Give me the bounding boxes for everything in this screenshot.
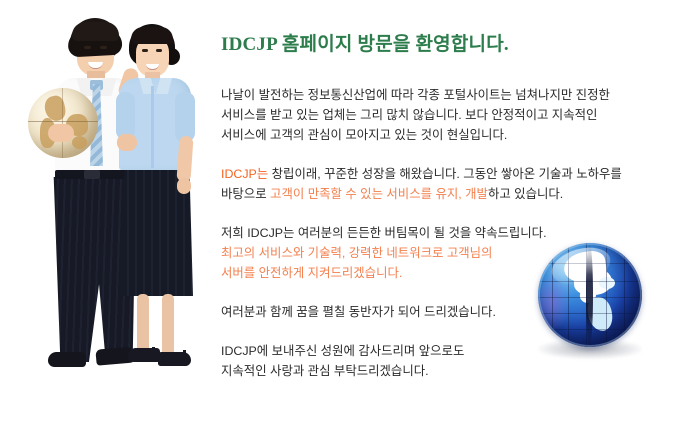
woman-hand-right: [177, 178, 191, 194]
paragraph-2-line-2: 바탕으로 고객이 만족할 수 있는 서비스를 유지, 개발하고 있습니다.: [221, 187, 563, 201]
paragraph-2-line-2-start: 바탕으로: [221, 187, 270, 201]
woman-leg-right: [162, 294, 174, 356]
paragraph-2-line-2-end: 하고 있습니다.: [488, 187, 563, 201]
man-shoe-left: [48, 352, 86, 367]
paragraph-3-line-2: 최고의 서비스와 기술력, 강력한 네트워크로 고객님의: [221, 246, 492, 260]
paragraph-1: 나날이 발전하는 정보통신산업에 따라 각종 포털사이트는 넘쳐나지만 진정한 …: [221, 85, 671, 145]
man-eye-right: [100, 46, 107, 49]
woman-hand-left: [117, 134, 137, 151]
woman-eye-left: [142, 49, 148, 52]
paragraph-4-line-1: 여러분과 함께 꿈을 펼칠 동반자가 되어 드리겠습니다.: [221, 305, 496, 319]
welcome-page: IDCJP 홈페이지 방문을 환영합니다. 나날이 발전하는 정보통신산업에 따…: [0, 0, 680, 431]
woman-eye-right: [156, 49, 162, 52]
globe-rim-light: [538, 243, 642, 347]
woman-arm-right: [175, 92, 195, 142]
woman-fringe: [131, 27, 173, 44]
vintage-globe-landmass: [72, 136, 87, 149]
globe-sphere: [538, 243, 642, 347]
woman-leg-left: [137, 294, 149, 356]
service-highlight: 고객이 만족할 수 있는 서비스를 유지, 개발: [270, 187, 488, 201]
man-belt-buckle: [84, 170, 100, 179]
woman-shoe-right: [158, 352, 191, 366]
vintage-globe-meridian: [62, 88, 63, 158]
paragraph-1-line-3: 서비스에 고객의 관심이 모아지고 있는 것이 현실입니다.: [221, 128, 507, 142]
woman-arm-left: [116, 92, 135, 140]
brand-name-highlight: IDCJP는: [221, 167, 268, 181]
woman-shirt-placket: [151, 86, 154, 168]
man-hand-holding-globe: [48, 124, 74, 142]
paragraph-5-line-2: 지속적인 사랑과 관심 부탁드리겠습니다.: [221, 364, 429, 378]
woman-forearm-right: [176, 136, 193, 183]
man-fringe: [72, 22, 119, 41]
vintage-globe-equator: [28, 121, 98, 122]
paragraph-3-line-1: 저희 IDCJP는 여러분의 든든한 버팀목이 될 것을 약속드립니다.: [221, 226, 547, 240]
woman-shoe-left: [128, 348, 160, 362]
vintage-globe-icon: [28, 88, 98, 158]
paragraph-5-line-1: IDCJP에 보내주신 성원에 감사드리며 앞으로도: [221, 344, 464, 358]
paragraph-2-line-1: IDCJP는 창립이래, 꾸준한 성장을 해왔습니다. 그동안 쌓아온 기술과 …: [221, 167, 622, 181]
blue-globe-graphic: [536, 243, 644, 361]
paragraph-2-line-1-rest: 창립이래, 꾸준한 성장을 해왔습니다. 그동안 쌓아온 기술과 노하우를: [268, 167, 622, 181]
paragraph-1-line-2: 서비스를 받고 있는 업체는 그리 많치 않습니다. 보다 안정적이고 지속적인: [221, 108, 597, 122]
paragraph-2: IDCJP는 창립이래, 꾸준한 성장을 해왔습니다. 그동안 쌓아온 기술과 …: [221, 164, 671, 204]
man-eye-left: [84, 46, 91, 49]
paragraph-3-line-3: 서버를 안전하게 지켜드리겠습니다.: [221, 266, 402, 280]
paragraph-1-line-1: 나날이 발전하는 정보통신산업에 따라 각종 포털사이트는 넘쳐나지만 진정한: [221, 88, 610, 102]
page-title: IDCJP 홈페이지 방문을 환영합니다.: [221, 29, 509, 56]
business-people-photo: [0, 0, 215, 431]
